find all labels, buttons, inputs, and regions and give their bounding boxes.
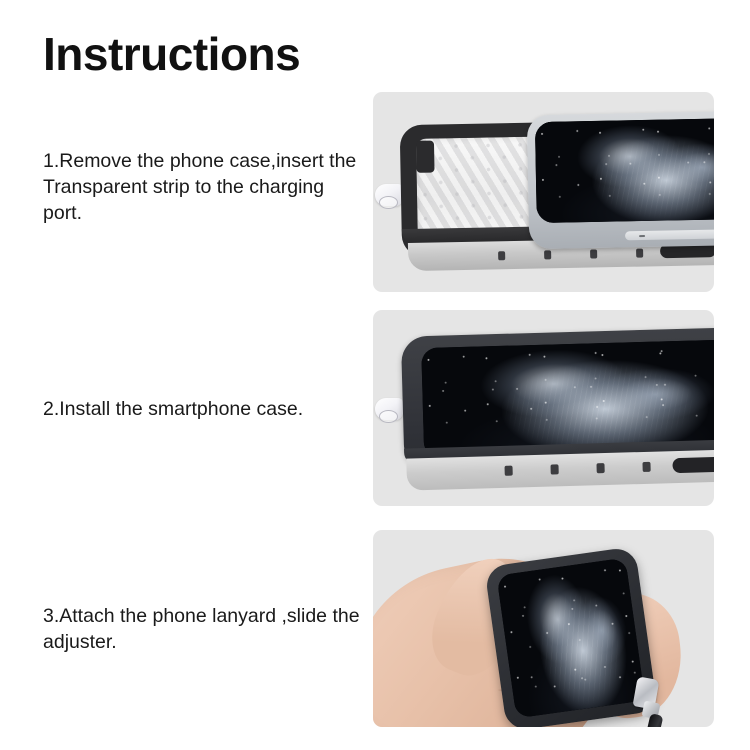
transparent-strip-ring-icon [379, 196, 398, 209]
step-3-image-panel [373, 530, 714, 727]
phone-in-case [401, 327, 714, 494]
phone-screen [496, 558, 645, 719]
smartphone-sliding-in [527, 111, 714, 249]
instructions-page: Instructions 1.Remove the phone case,ins… [0, 0, 750, 750]
step-1-image-panel [373, 92, 714, 292]
step-2-text: 2.Install the smartphone case. [43, 396, 363, 422]
case-side-tab [416, 141, 435, 173]
wave-wallpaper [496, 558, 645, 719]
scene-hand-with-lanyard [373, 530, 714, 727]
step-1-text: 1.Remove the phone case,insert the Trans… [43, 148, 363, 226]
scene-case-installed [373, 310, 714, 506]
case-button [672, 457, 714, 474]
phone-with-case [484, 546, 658, 727]
step-2-image-panel [373, 310, 714, 506]
phone-screen [535, 118, 714, 223]
phone-earpiece-speaker [625, 229, 714, 240]
page-title: Instructions [43, 29, 300, 80]
wave-wallpaper [535, 118, 714, 223]
scene-case-open [373, 92, 714, 292]
step-3-text: 3.Attach the phone lanyard ,slide the ad… [43, 603, 363, 655]
transparent-strip-ring-icon [379, 410, 398, 423]
